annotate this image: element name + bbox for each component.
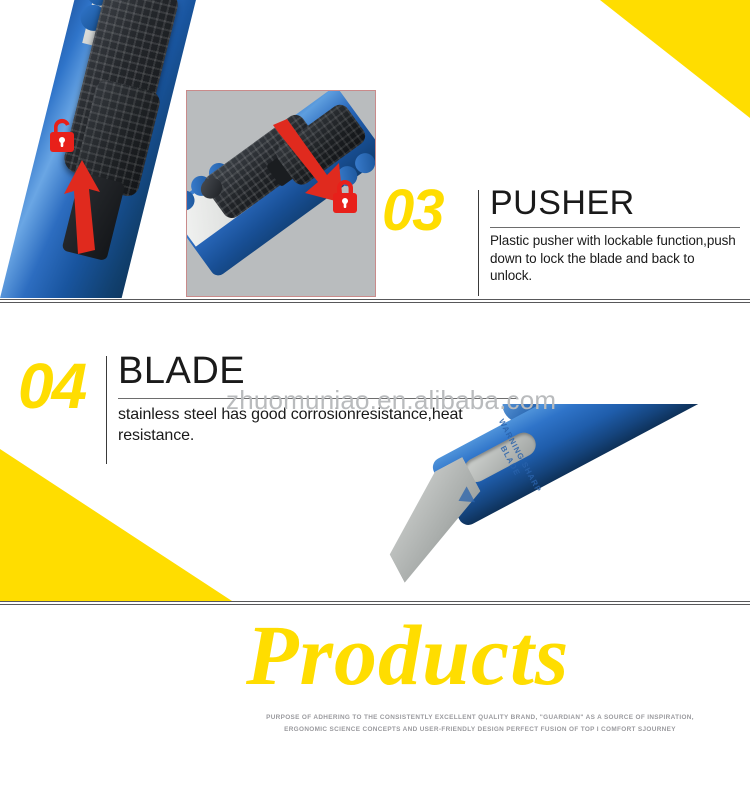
yellow-triangle-decoration-bottom-left — [0, 449, 232, 601]
banner-fineprint: PURPOSE OF ADHERING TO THE CONSISTENTLY … — [230, 712, 730, 736]
vertical-rule — [478, 190, 479, 296]
pusher-closeup-inset — [186, 90, 376, 297]
section-title-pusher: PUSHER — [490, 186, 740, 222]
fineprint-line-2: ERGONOMIC SCIENCE CONCEPTS AND USER-FRIE… — [230, 724, 730, 736]
unlock-icon — [46, 115, 80, 157]
watermark-text: zhuomuniao.en.alibaba.com — [226, 385, 556, 416]
product-detail-page: 03 PUSHER Plastic pusher with lockable f… — [0, 0, 750, 800]
vertical-rule — [106, 356, 107, 464]
section-pusher: 03 PUSHER Plastic pusher with lockable f… — [0, 0, 750, 300]
lock-icon — [329, 176, 361, 216]
arrow-up-icon — [62, 158, 104, 258]
section-number-04: 04 — [18, 354, 85, 418]
fineprint-line-1: PURPOSE OF ADHERING TO THE CONSISTENTLY … — [230, 712, 730, 724]
pusher-text-block: PUSHER Plastic pusher with lockable func… — [490, 186, 740, 285]
horizontal-rule — [490, 227, 740, 228]
section-description-pusher: Plastic pusher with lockable function,pu… — [490, 232, 740, 285]
utility-knife-illustration — [0, 0, 208, 298]
yellow-triangle-decoration — [600, 0, 750, 118]
section-number-03: 03 — [382, 182, 443, 240]
banner-title: Products — [246, 612, 746, 698]
